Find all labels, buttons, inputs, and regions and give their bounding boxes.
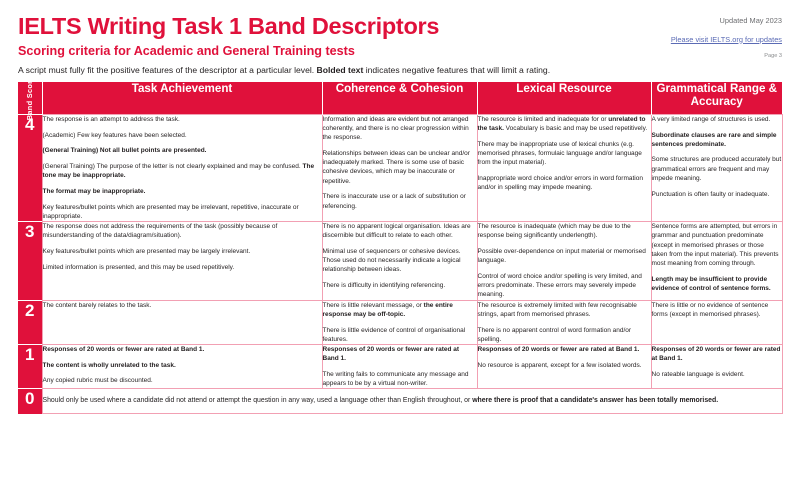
descriptor-paragraph: The resource is limited and inadequate f… xyxy=(478,115,651,133)
cell-band2-coherence-cohesion: There is little relevant message, or the… xyxy=(322,300,477,344)
descriptor-text: There is no apparent logical organisatio… xyxy=(323,223,471,239)
descriptor-paragraph: There is little or no evidence of senten… xyxy=(652,301,782,319)
cell-band4-coherence-cohesion: Information and ideas are evident but no… xyxy=(322,114,477,221)
descriptor-paragraph: Inappropriate word choice and/or errors … xyxy=(478,174,651,192)
cell-band0-description: Should only be used where a candidate di… xyxy=(42,389,782,414)
descriptor-text-bold: Subordinate clauses are rare and simple … xyxy=(652,132,777,148)
band-score-header: Band Score xyxy=(18,82,42,115)
cell-band3-coherence-cohesion: There is no apparent logical organisatio… xyxy=(322,222,477,301)
descriptor-paragraph: Responses of 20 words or fewer are rated… xyxy=(43,345,322,354)
cell-band4-grammatical-range: A very limited range of structures is us… xyxy=(651,114,782,221)
descriptor-paragraph: A very limited range of structures is us… xyxy=(652,115,782,124)
descriptor-paragraph: Minimal use of sequencers or cohesive de… xyxy=(323,247,477,275)
descriptor-text: There is inaccurate use or a lack of sub… xyxy=(323,193,466,209)
descriptor-paragraph: No rateable language is evident. xyxy=(652,370,782,379)
band-number-3: 3 xyxy=(18,222,42,301)
band-score-label: Band Score xyxy=(26,76,35,120)
descriptor-paragraph: The writing fails to communicate any mes… xyxy=(323,370,477,388)
descriptor-text: The resource is limited and inadequate f… xyxy=(478,116,609,123)
descriptor-text-bold: Length may be insufficient to provide ev… xyxy=(652,276,771,292)
descriptor-paragraph: Information and ideas are evident but no… xyxy=(323,115,477,143)
descriptor-text: Relationships between ideas can be uncle… xyxy=(323,150,470,185)
descriptor-paragraph: The format may be inappropriate. xyxy=(43,187,322,196)
note-text-bold: Bolded text xyxy=(317,65,364,75)
descriptor-text: Some structures are produced accurately … xyxy=(652,156,782,181)
descriptor-text: Should only be used where a candidate di… xyxy=(43,397,473,404)
descriptor-text: The response does not address the requir… xyxy=(43,223,278,239)
note-text-part2: indicates negative features that will li… xyxy=(363,65,550,75)
descriptor-text: Punctuation is often faulty or inadequat… xyxy=(652,191,770,198)
cell-band2-task-achievement: The content barely relates to the task. xyxy=(42,300,322,344)
column-header-coherence-cohesion: Coherence & Cohesion xyxy=(322,82,477,115)
header-meta: Updated May 2023 Please visit IELTS.org … xyxy=(552,16,782,59)
descriptor-paragraph: (General Training) Not all bullet points… xyxy=(43,146,322,155)
descriptor-paragraph: Length may be insufficient to provide ev… xyxy=(652,275,782,293)
descriptor-text: No resource is apparent, except for a fe… xyxy=(478,362,642,369)
descriptor-text: Vocabulary is basic and may be used repe… xyxy=(504,125,647,132)
cell-band2-grammatical-range: There is little or no evidence of senten… xyxy=(651,300,782,344)
column-header-grammatical-range: Grammatical Range & Accuracy xyxy=(651,82,782,115)
column-header-lexical-resource: Lexical Resource xyxy=(477,82,651,115)
descriptor-text: The resource is inadequate (which may be… xyxy=(478,223,631,239)
descriptor-paragraph: Some structures are produced accurately … xyxy=(652,155,782,183)
descriptor-paragraph: There is difficulty in identifying refer… xyxy=(323,281,477,290)
descriptor-paragraph: Possible over-dependence on input materi… xyxy=(478,247,651,265)
descriptor-paragraph: Should only be used where a candidate di… xyxy=(43,396,782,406)
descriptor-text-bold: Responses of 20 words or fewer are rated… xyxy=(652,346,781,362)
descriptor-paragraph: (General Training) The purpose of the le… xyxy=(43,162,322,180)
note-text-part1: A script must fully fit the positive fea… xyxy=(18,65,317,75)
descriptor-text: Key features/bullet points which are pre… xyxy=(43,248,251,255)
cell-band1-grammatical-range: Responses of 20 words or fewer are rated… xyxy=(651,344,782,388)
table-body: 4The response is an attempt to address t… xyxy=(18,114,782,413)
table-row: 3The response does not address the requi… xyxy=(18,222,782,301)
descriptor-text-bold: Responses of 20 words or fewer are rated… xyxy=(323,346,460,362)
descriptor-paragraph: Key features/bullet points which are pre… xyxy=(43,247,322,256)
cell-band4-task-achievement: The response is an attempt to address th… xyxy=(42,114,322,221)
descriptor-text: There may be inappropriate use of lexica… xyxy=(478,141,642,166)
descriptor-paragraph: Responses of 20 words or fewer are rated… xyxy=(478,345,651,354)
descriptor-text: Control of word choice and/or spelling i… xyxy=(478,273,642,298)
cell-band1-task-achievement: Responses of 20 words or fewer are rated… xyxy=(42,344,322,388)
descriptor-text: Minimal use of sequencers or cohesive de… xyxy=(323,248,461,273)
descriptor-paragraph: The resource is extremely limited with f… xyxy=(478,301,651,319)
descriptor-paragraph: There is little evidence of control of o… xyxy=(323,326,477,344)
cell-band1-coherence-cohesion: Responses of 20 words or fewer are rated… xyxy=(322,344,477,388)
table-row: 2The content barely relates to the task.… xyxy=(18,300,782,344)
descriptor-text: There is difficulty in identifying refer… xyxy=(323,282,446,289)
descriptor-text: There is little or no evidence of senten… xyxy=(652,302,769,318)
band-number-0: 0 xyxy=(18,389,42,414)
descriptor-text: Inappropriate word choice and/or errors … xyxy=(478,175,643,191)
cell-band2-lexical-resource: The resource is extremely limited with f… xyxy=(477,300,651,344)
cell-band3-task-achievement: The response does not address the requir… xyxy=(42,222,322,301)
descriptor-text-bold: The format may be inappropriate. xyxy=(43,188,146,195)
page-number: Page 3 xyxy=(552,53,782,59)
descriptor-paragraph: The response is an attempt to address th… xyxy=(43,115,322,124)
descriptor-paragraph: The content is wholly unrelated to the t… xyxy=(43,361,322,370)
band-number-1: 1 xyxy=(18,344,42,388)
descriptor-paragraph: There is no apparent control of word for… xyxy=(478,326,651,344)
document-header: IELTS Writing Task 1 Band Descriptors Sc… xyxy=(18,0,782,75)
descriptor-text: Information and ideas are evident but no… xyxy=(323,116,469,141)
table-row: 1Responses of 20 words or fewer are rate… xyxy=(18,344,782,388)
cell-band1-lexical-resource: Responses of 20 words or fewer are rated… xyxy=(477,344,651,388)
descriptor-paragraph: (Academic) Few key features have been se… xyxy=(43,131,322,140)
descriptor-paragraph: The content barely relates to the task. xyxy=(43,301,322,310)
descriptor-text: (General Training) The purpose of the le… xyxy=(43,163,303,170)
table-header-row: Band Score Task Achievement Coherence & … xyxy=(18,82,782,115)
descriptor-paragraph: There is little relevant message, or the… xyxy=(323,301,477,319)
descriptor-paragraph: Relationships between ideas can be uncle… xyxy=(323,149,477,186)
descriptor-text-bold: (General Training) Not all bullet points… xyxy=(43,147,207,154)
cell-band4-lexical-resource: The resource is limited and inadequate f… xyxy=(477,114,651,221)
descriptor-paragraph: The response does not address the requir… xyxy=(43,222,322,240)
descriptor-text: Key features/bullet points which are pre… xyxy=(43,204,299,220)
descriptor-paragraph: Sentence forms are attempted, but errors… xyxy=(652,222,782,268)
descriptor-text: (Academic) Few key features have been se… xyxy=(43,132,187,139)
descriptor-text: A very limited range of structures is us… xyxy=(652,116,771,123)
descriptor-text: The writing fails to communicate any mes… xyxy=(323,371,469,387)
descriptor-text: Sentence forms are attempted, but errors… xyxy=(652,223,779,267)
descriptor-paragraph: Subordinate clauses are rare and simple … xyxy=(652,131,782,149)
descriptor-text: Limited information is presented, and th… xyxy=(43,264,235,271)
descriptor-paragraph: Responses of 20 words or fewer are rated… xyxy=(652,345,782,363)
descriptor-paragraph: Any copied rubric must be discounted. xyxy=(43,376,322,385)
descriptor-paragraph: Key features/bullet points which are pre… xyxy=(43,203,322,221)
table-row-band0: 0Should only be used where a candidate d… xyxy=(18,389,782,414)
descriptor-text: No rateable language is evident. xyxy=(652,371,745,378)
page-note: A script must fully fit the positive fea… xyxy=(18,65,782,75)
descriptor-text: Possible over-dependence on input materi… xyxy=(478,248,646,264)
descriptor-paragraph: Responses of 20 words or fewer are rated… xyxy=(323,345,477,363)
descriptor-paragraph: There is no apparent logical organisatio… xyxy=(323,222,477,240)
descriptor-paragraph: The resource is inadequate (which may be… xyxy=(478,222,651,240)
descriptor-text: There is no apparent control of word for… xyxy=(478,327,632,343)
descriptor-paragraph: Control of word choice and/or spelling i… xyxy=(478,272,651,300)
descriptor-text-bold: Responses of 20 words or fewer are rated… xyxy=(43,346,205,353)
column-header-task-achievement: Task Achievement xyxy=(42,82,322,115)
descriptor-paragraph: There may be inappropriate use of lexica… xyxy=(478,140,651,168)
band-descriptors-table: Band Score Task Achievement Coherence & … xyxy=(18,82,783,414)
descriptor-text-bold: where there is proof that a candidate's … xyxy=(472,397,718,404)
cell-band3-lexical-resource: The resource is inadequate (which may be… xyxy=(477,222,651,301)
descriptor-paragraph: No resource is apparent, except for a fe… xyxy=(478,361,651,370)
band-number-2: 2 xyxy=(18,300,42,344)
descriptor-text: There is little relevant message, or xyxy=(323,302,424,309)
table-header: Band Score Task Achievement Coherence & … xyxy=(18,82,782,115)
descriptor-text: The content barely relates to the task. xyxy=(43,302,152,309)
table-row: 4The response is an attempt to address t… xyxy=(18,114,782,221)
descriptor-paragraph: There is inaccurate use or a lack of sub… xyxy=(323,192,477,210)
band-number-4: 4 xyxy=(18,114,42,221)
descriptor-paragraph: Limited information is presented, and th… xyxy=(43,263,322,272)
descriptor-text: The response is an attempt to address th… xyxy=(43,116,180,123)
ielts-updates-link[interactable]: Please visit IELTS.org for updates xyxy=(552,35,782,44)
descriptor-text: There is little evidence of control of o… xyxy=(323,327,466,343)
descriptor-text: The resource is extremely limited with f… xyxy=(478,302,637,318)
document-page: IELTS Writing Task 1 Band Descriptors Sc… xyxy=(0,0,800,500)
descriptor-text: Any copied rubric must be discounted. xyxy=(43,377,153,384)
descriptor-text-bold: The content is wholly unrelated to the t… xyxy=(43,362,176,369)
descriptor-paragraph: Punctuation is often faulty or inadequat… xyxy=(652,190,782,199)
cell-band3-grammatical-range: Sentence forms are attempted, but errors… xyxy=(651,222,782,301)
descriptor-text-bold: Responses of 20 words or fewer are rated… xyxy=(478,346,640,353)
updated-date: Updated May 2023 xyxy=(552,16,782,26)
